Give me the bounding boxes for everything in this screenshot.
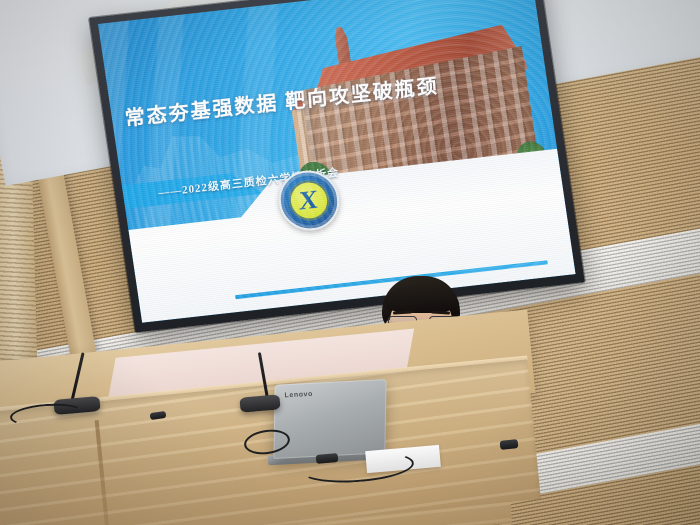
usb-adapter[interactable] bbox=[316, 453, 339, 464]
usb-adapter[interactable] bbox=[500, 439, 519, 450]
slide-surface: 常态夯基强数据 靶向攻坚破瓶颈 ——2022级高三质检六学情分析会 X bbox=[98, 0, 576, 323]
conference-room-photo: 常态夯基强数据 靶向攻坚破瓶颈 ——2022级高三质检六学情分析会 X bbox=[0, 0, 700, 525]
emblem-inner-disc: X bbox=[286, 179, 332, 223]
emblem-letter: X bbox=[299, 187, 318, 215]
laptop-brand-label: Lenovo bbox=[284, 391, 313, 399]
laptop[interactable]: Lenovo bbox=[273, 379, 386, 459]
